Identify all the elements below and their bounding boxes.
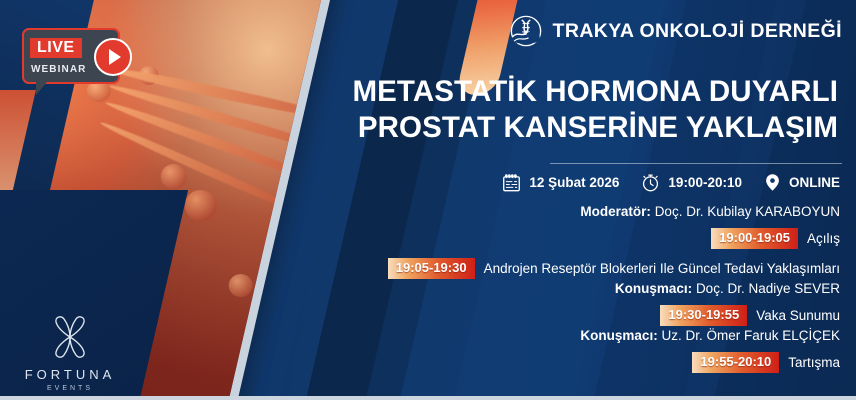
program-time-badge: 19:55-20:10	[692, 352, 779, 373]
live-label: LIVE	[30, 38, 82, 58]
program-list: 19:00-19:05 Açılış 19:05-19:30 Androjen …	[326, 228, 842, 373]
event-title-line2: PROSTAT KANSERİNE YAKLAŞIM	[326, 110, 838, 146]
live-webinar-badge[interactable]: LIVE WEBINAR	[22, 28, 120, 84]
speaker-name: Uz. Dr. Ömer Faruk ELÇİÇEK	[661, 328, 840, 343]
event-title-line1: METASTATİK HORMONA DUYARLI	[326, 74, 838, 110]
event-title: METASTATİK HORMONA DUYARLI PROSTAT KANSE…	[326, 74, 842, 146]
program-title: Androjen Reseptör Blokerleri Ile Güncel …	[484, 261, 840, 276]
speaker-name: Doç. Dr. Nadiye SEVER	[696, 281, 840, 296]
webinar-label: WEBINAR	[31, 64, 86, 75]
program-row: 19:00-19:05 Açılış	[326, 228, 840, 249]
stopwatch-icon	[641, 173, 660, 192]
program-title: Açılış	[807, 231, 840, 246]
calendar-icon	[502, 173, 521, 192]
moderator-name: Doç. Dr. Kubilay KARABOYUN	[655, 204, 840, 219]
divider	[550, 163, 842, 164]
program-time-badge: 19:30-19:55	[660, 305, 747, 326]
program-title: Vaka Sunumu	[756, 308, 840, 323]
webinar-banner: LIVE WEBINAR FORTUNA EVENTS	[0, 0, 856, 400]
sponsor-name: FORTUNA	[18, 367, 122, 382]
program-title: Tartışma	[788, 355, 840, 370]
content-column: TRAKYA ONKOLOJİ DERNEĞİ METASTATİK HORMO…	[326, 0, 856, 400]
program-time-badge: 19:05-19:30	[388, 258, 475, 279]
speaker-label: Konuşmacı:	[615, 281, 692, 296]
speaker-label: Konuşmacı:	[580, 328, 657, 343]
program-row: 19:05-19:30 Androjen Reseptör Blokerleri…	[326, 258, 840, 279]
program-speaker: Konuşmacı: Uz. Dr. Ömer Faruk ELÇİÇEK	[326, 328, 840, 343]
moderator-line: Moderatör: Doç. Dr. Kubilay KARABOYUN	[326, 204, 842, 219]
location-pin-icon	[764, 173, 781, 192]
play-icon[interactable]	[94, 38, 132, 76]
sponsor-subtitle: EVENTS	[18, 385, 122, 392]
organization-header: TRAKYA ONKOLOJİ DERNEĞİ	[326, 0, 842, 48]
organization-name: TRAKYA ONKOLOJİ DERNEĞİ	[553, 20, 842, 43]
event-date: 12 Şubat 2026	[529, 175, 619, 190]
clover-icon	[44, 314, 96, 360]
dna-wave-circle-logo	[509, 14, 543, 48]
bottom-strip	[0, 396, 856, 400]
event-location: ONLINE	[789, 175, 840, 190]
sponsor-logo: FORTUNA EVENTS	[18, 314, 122, 392]
event-time: 19:00-20:10	[668, 175, 742, 190]
event-meta: 12 Şubat 2026 19:00-20:10 ONLINE	[326, 173, 842, 192]
program-row: 19:30-19:55 Vaka Sunumu	[326, 305, 840, 326]
moderator-label: Moderatör:	[580, 204, 651, 219]
program-row: 19:55-20:10 Tartışma	[326, 352, 840, 373]
program-speaker: Konuşmacı: Doç. Dr. Nadiye SEVER	[326, 281, 840, 296]
program-time-badge: 19:00-19:05	[711, 228, 798, 249]
